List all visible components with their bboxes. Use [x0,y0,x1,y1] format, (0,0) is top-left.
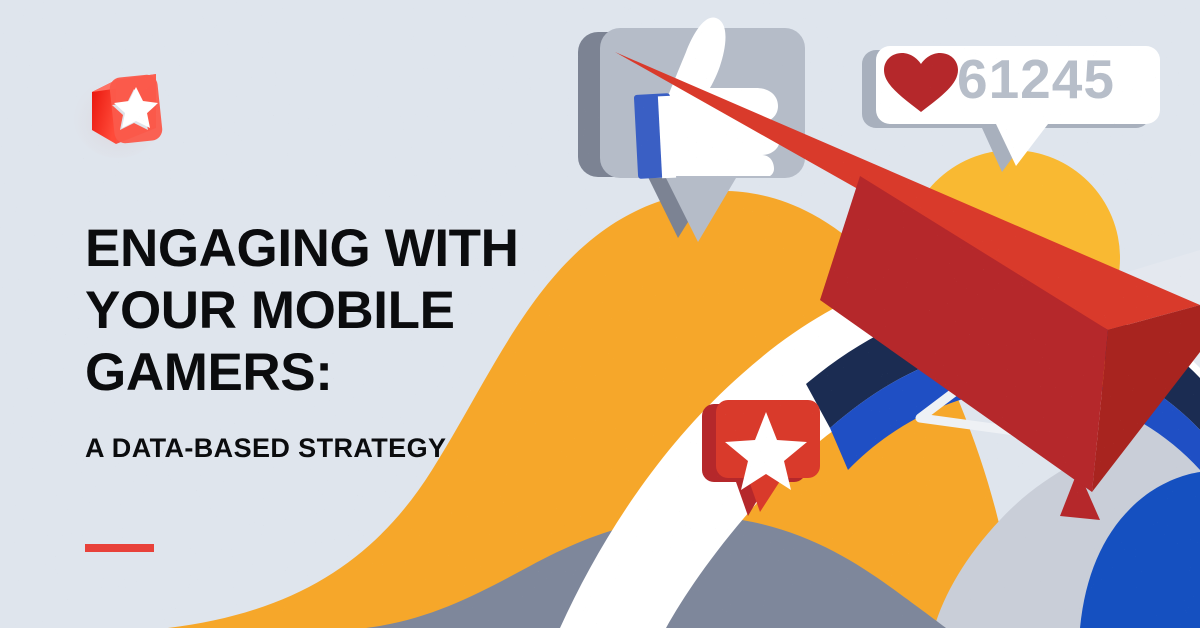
banner-canvas: 61245 [0,0,1200,628]
page-subtitle: A DATA-BASED STRATEGY [85,432,645,464]
star-cube-logo[interactable] [72,52,188,168]
headline-line-1: ENGAGING WITH [85,219,519,278]
headline-line-2: YOUR MOBILE [85,281,455,340]
page-title: ENGAGING WITH YOUR MOBILE GAMERS: [85,218,605,404]
headline-line-3: GAMERS: [85,343,332,402]
accent-rule [85,544,154,552]
